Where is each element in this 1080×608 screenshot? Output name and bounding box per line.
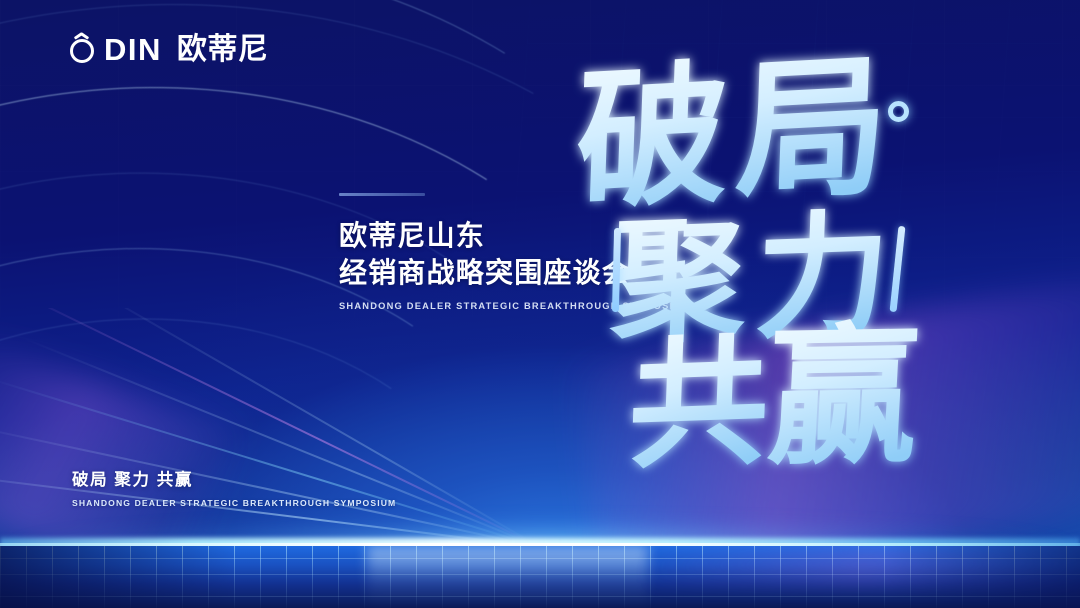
title-divider-rule (339, 193, 425, 196)
degree-circle-icon (888, 101, 909, 122)
floor-center-shine (367, 546, 648, 608)
floor-left-vignette (0, 546, 238, 608)
odin-o-circumflex-icon (70, 36, 97, 63)
calligraphy-artwork: 破局 聚力 共 赢 (582, 42, 982, 472)
calligraphy-line3-left: 共 (626, 321, 772, 489)
event-backdrop-banner: DIN 欧蒂尼 欧蒂尼山东 经销商战略突围座谈会 SHANDONG DEALER… (0, 0, 1080, 608)
floor-right-vignette (886, 546, 1080, 608)
slogan-english: SHANDONG DEALER STRATEGIC BREAKTHROUGH S… (72, 498, 396, 508)
odin-logo: DIN 欧蒂尼 (70, 34, 268, 65)
bottom-slogan-block: 破局 聚力 共赢 SHANDONG DEALER STRATEGIC BREAK… (72, 466, 396, 508)
slogan-chinese: 破局 聚力 共赢 (72, 466, 396, 490)
logo-latin-text: DIN (104, 34, 162, 65)
logo-chinese-text: 欧蒂尼 (177, 35, 269, 65)
calligraphy-svg: 破局 聚力 共 赢 (582, 42, 982, 472)
reflective-floor (0, 546, 1080, 608)
calligraphy-line3-right: 赢 (764, 310, 923, 487)
